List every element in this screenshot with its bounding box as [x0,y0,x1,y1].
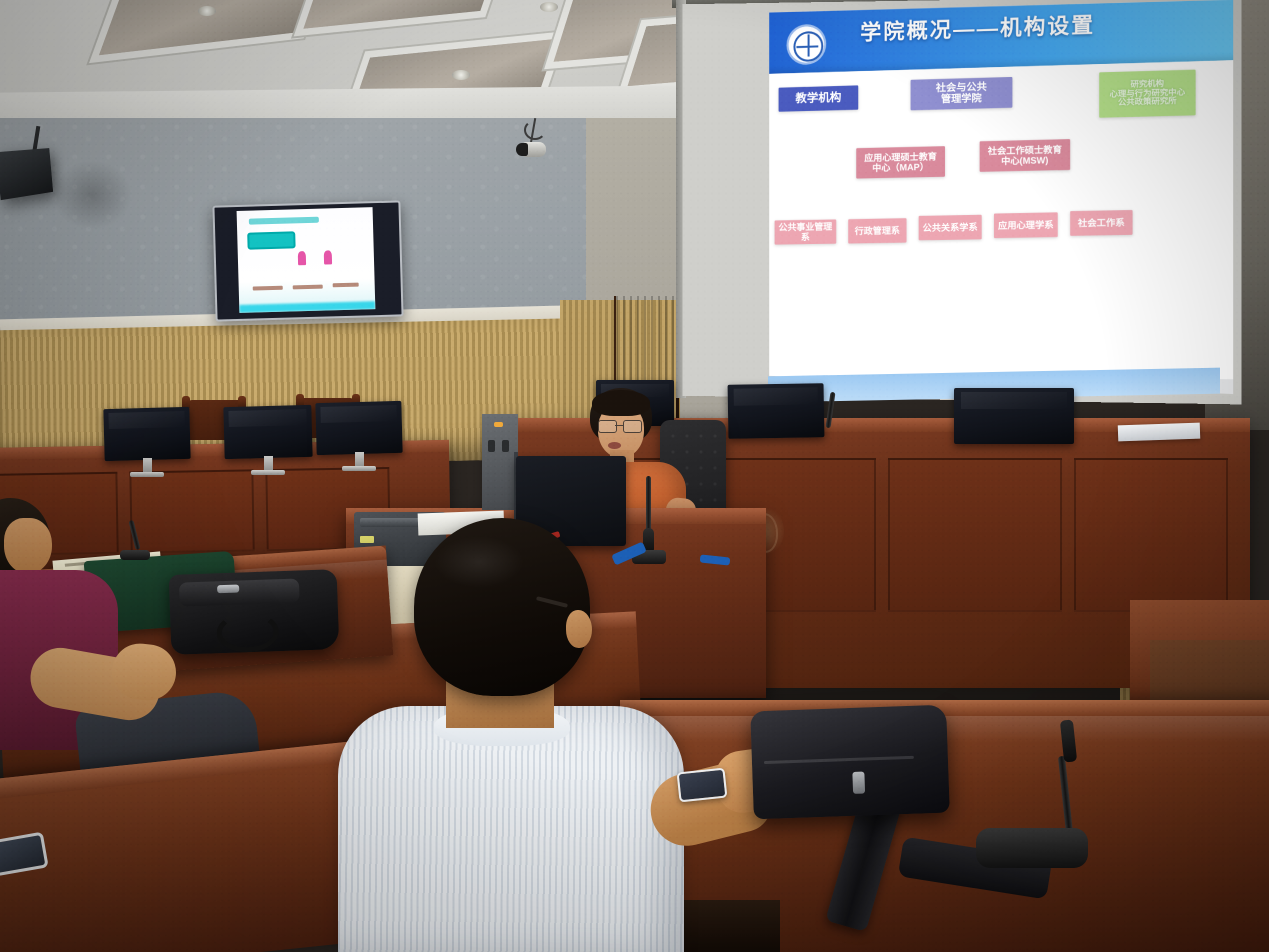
org-node-dept-admin: 行政管理系 [848,218,906,243]
zipper-icon [852,772,865,794]
wall-mounted-display[interactable] [212,200,403,321]
org-node-school: 社会与公共管理学院 [911,77,1013,110]
org-node-map-center: 应用心理硕士教育中心（MAP） [856,146,945,178]
monitor-base [251,470,285,475]
smartphone[interactable] [677,768,728,803]
page-button [247,231,295,249]
org-node-dept-pr: 公共关系学系 [919,215,982,241]
org-node-msw-center: 社会工作硕士教育中心(MSW) [980,139,1071,172]
monitor [223,405,312,459]
org-node-research-org: 研究机构心理与行为研究中心公共政策研究所 [1099,70,1195,118]
lecture-hall-photo: 学院概况——机构设置 教学机构社会与公共管理学院研究机构心理与行为研究中心公共政… [0,0,1269,952]
laptop-bag [750,705,950,820]
projection-screen: 学院概况——机构设置 教学机构社会与公共管理学院研究机构心理与行为研究中心公共政… [683,0,1242,404]
status-led [494,422,503,427]
wall-speaker [0,148,53,200]
page-graphic [298,251,306,265]
monitor [315,401,402,455]
page-header-bar [249,217,319,225]
ceiling-coffer [303,0,502,29]
monitor-base [130,472,164,477]
bag-handle [216,611,279,653]
presenter-mouth [608,442,621,449]
bag-clasp-icon [217,585,239,594]
monitor [954,388,1074,444]
monitor [103,407,190,461]
presentation-slide: 学院概况——机构设置 教学机构社会与公共管理学院研究机构心理与行为研究中心公共政… [769,0,1233,381]
rack-switch[interactable] [488,440,495,452]
equipment-rack [482,414,518,510]
page-text-line [333,283,359,288]
document-stack [1118,423,1201,442]
ceiling-downlight [540,2,558,12]
glasses-icon [598,420,642,431]
org-node-dept-social: 社会工作系 [1070,210,1132,236]
presenter-fringe [592,390,650,416]
monitor-base [342,466,376,471]
page-text-line [293,285,323,290]
org-node-teaching-org: 教学机构 [779,85,859,111]
projector-lens-icon [516,143,528,156]
ceiling-downlight [198,6,216,16]
slide-org-chart: 教学机构社会与公共管理学院研究机构心理与行为研究中心公共政策研究所应用心理硕士教… [769,60,1233,381]
display-glow [239,301,375,313]
handbag [169,569,340,655]
attendee-front [318,518,788,952]
org-node-dept-public-admin: 公共事业管理系 [775,219,837,244]
page-text-line [253,286,283,291]
screen-surface: 学院概况——机构设置 教学机构社会与公共管理学院研究机构心理与行为研究中心公共政… [769,0,1233,394]
page-graphic [324,250,332,264]
speaker-shadow [52,160,132,230]
attendee-front-ear [566,610,592,648]
display-screen [237,207,376,313]
monitor [728,383,825,439]
ceiling-downlight [452,70,470,80]
org-node-dept-psych: 应用心理学系 [994,212,1058,238]
attendee-left-face [4,518,52,574]
slide-title: 学院概况——机构设置 [860,9,1095,47]
university-emblem-icon [788,26,824,63]
rack-switch[interactable] [502,440,509,452]
